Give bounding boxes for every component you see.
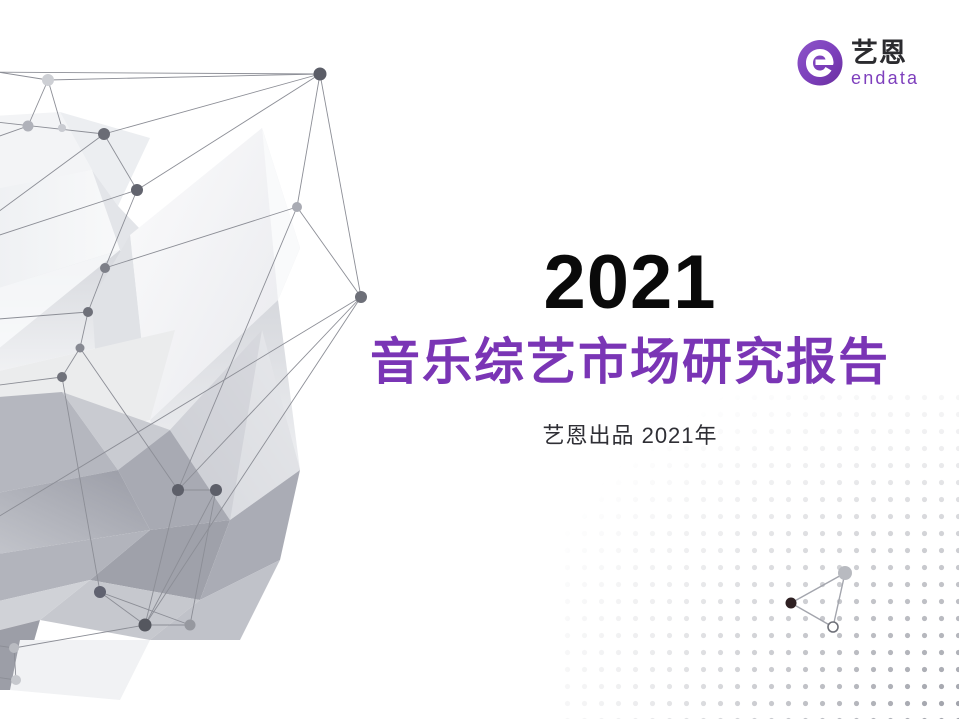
cover-headline: 音乐综艺市场研究报告 bbox=[340, 335, 920, 390]
poly-network-nodes bbox=[9, 68, 367, 686]
logo-name-en: endata bbox=[851, 69, 919, 87]
poly-facets-upper bbox=[0, 112, 262, 380]
poly-facets-central bbox=[0, 128, 300, 540]
cover-title-block: 2021 音乐综艺市场研究报告 艺恩出品 2021年 bbox=[340, 245, 920, 450]
poly-network-lines bbox=[0, 66, 361, 680]
poly-highlight-wedges bbox=[0, 128, 300, 520]
endata-e-logo bbox=[795, 38, 845, 88]
report-cover-slide: 艺恩 endata 2021 音乐综艺市场研究报告 艺恩出品 2021年 bbox=[0, 0, 959, 719]
triangle-node-dark bbox=[786, 598, 797, 609]
endata-logo[interactable]: 艺恩 endata bbox=[795, 38, 943, 104]
cover-year: 2021 bbox=[340, 245, 920, 321]
cover-byline: 艺恩出品 2021年 bbox=[340, 418, 920, 450]
triangle-node-light bbox=[838, 566, 852, 580]
poly-facets-lower bbox=[0, 330, 300, 700]
logo-name-cn: 艺恩 bbox=[851, 40, 907, 68]
node-triangle-accent bbox=[775, 555, 885, 650]
triangle-node-hollow bbox=[828, 622, 838, 632]
